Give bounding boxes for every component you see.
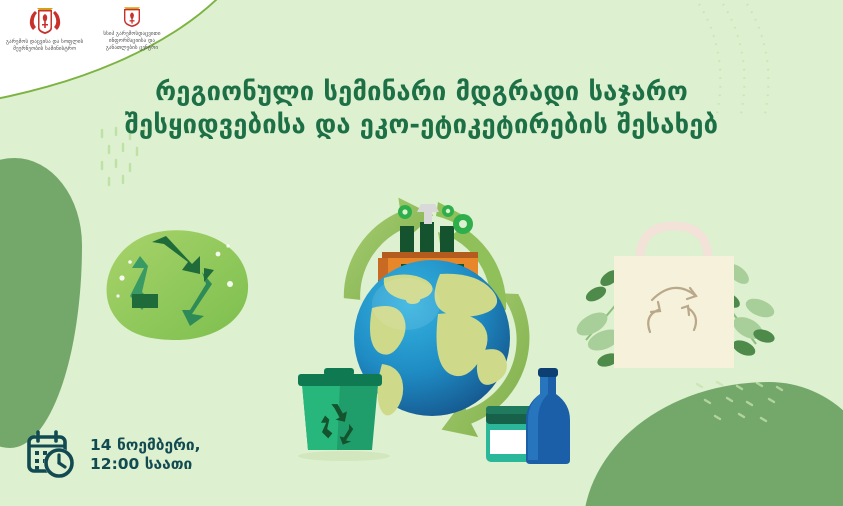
recycling-bin-icon	[298, 368, 382, 450]
logo-eiec: სსიპ გარემოსდაცვითი ინფორმაციისა და განა…	[103, 6, 160, 53]
glass-bottle-icon	[526, 368, 570, 464]
decorative-blob-left	[0, 158, 82, 448]
title-line-2: შესყიდვებისა და ეკო-ეტიკეტირების შესახებ	[70, 109, 773, 142]
logo-ministry-text: გარემოს დაცვისა და სოფლის მეურნეობის სამ…	[6, 39, 83, 53]
logo-eiec-text: სსიპ გარემოსდაცვითი ინფორმაციისა და განა…	[103, 31, 160, 53]
calendar-clock-icon	[26, 430, 78, 480]
title-line-1: რეგიონული სემინარი მდგრადი საჯარო	[70, 76, 773, 109]
eco-shopping-bag-illustration	[568, 212, 780, 380]
logo-eiec-line-3: განათლების ცენტრი	[103, 45, 160, 52]
event-datetime: 14 ნოემბერი, 12:00 საათი	[26, 430, 201, 480]
poster-canvas: გარემოს დაცვისა და სოფლის მეურნეობის სამ…	[0, 0, 843, 506]
georgia-coat-of-arms-icon	[25, 6, 65, 36]
georgia-small-emblem-icon	[123, 6, 141, 28]
shopping-bag-icon	[614, 226, 734, 368]
logo-ministry-line-2: მეურნეობის სამინისტრო	[6, 46, 83, 53]
recycle-badge-illustration	[96, 222, 256, 350]
decorative-blob-bottom-right	[583, 382, 843, 506]
event-time: 12:00 საათი	[90, 455, 201, 474]
dotted-marks-bottom-right	[689, 380, 799, 428]
earth-globe-icon	[354, 260, 510, 416]
globe-recycling-illustration	[288, 178, 578, 466]
header-logos: გარემოს დაცვისა და სოფლის მეურნეობის სამ…	[6, 6, 161, 53]
logo-ministry: გარემოს დაცვისა და სოფლის მეურნეობის სამ…	[6, 6, 83, 53]
event-date: 14 ნოემბერი,	[90, 436, 201, 455]
event-datetime-text: 14 ნოემბერი, 12:00 საათი	[90, 436, 201, 475]
page-title: რეგიონული სემინარი მდგრადი საჯარო შესყიდ…	[0, 76, 843, 142]
